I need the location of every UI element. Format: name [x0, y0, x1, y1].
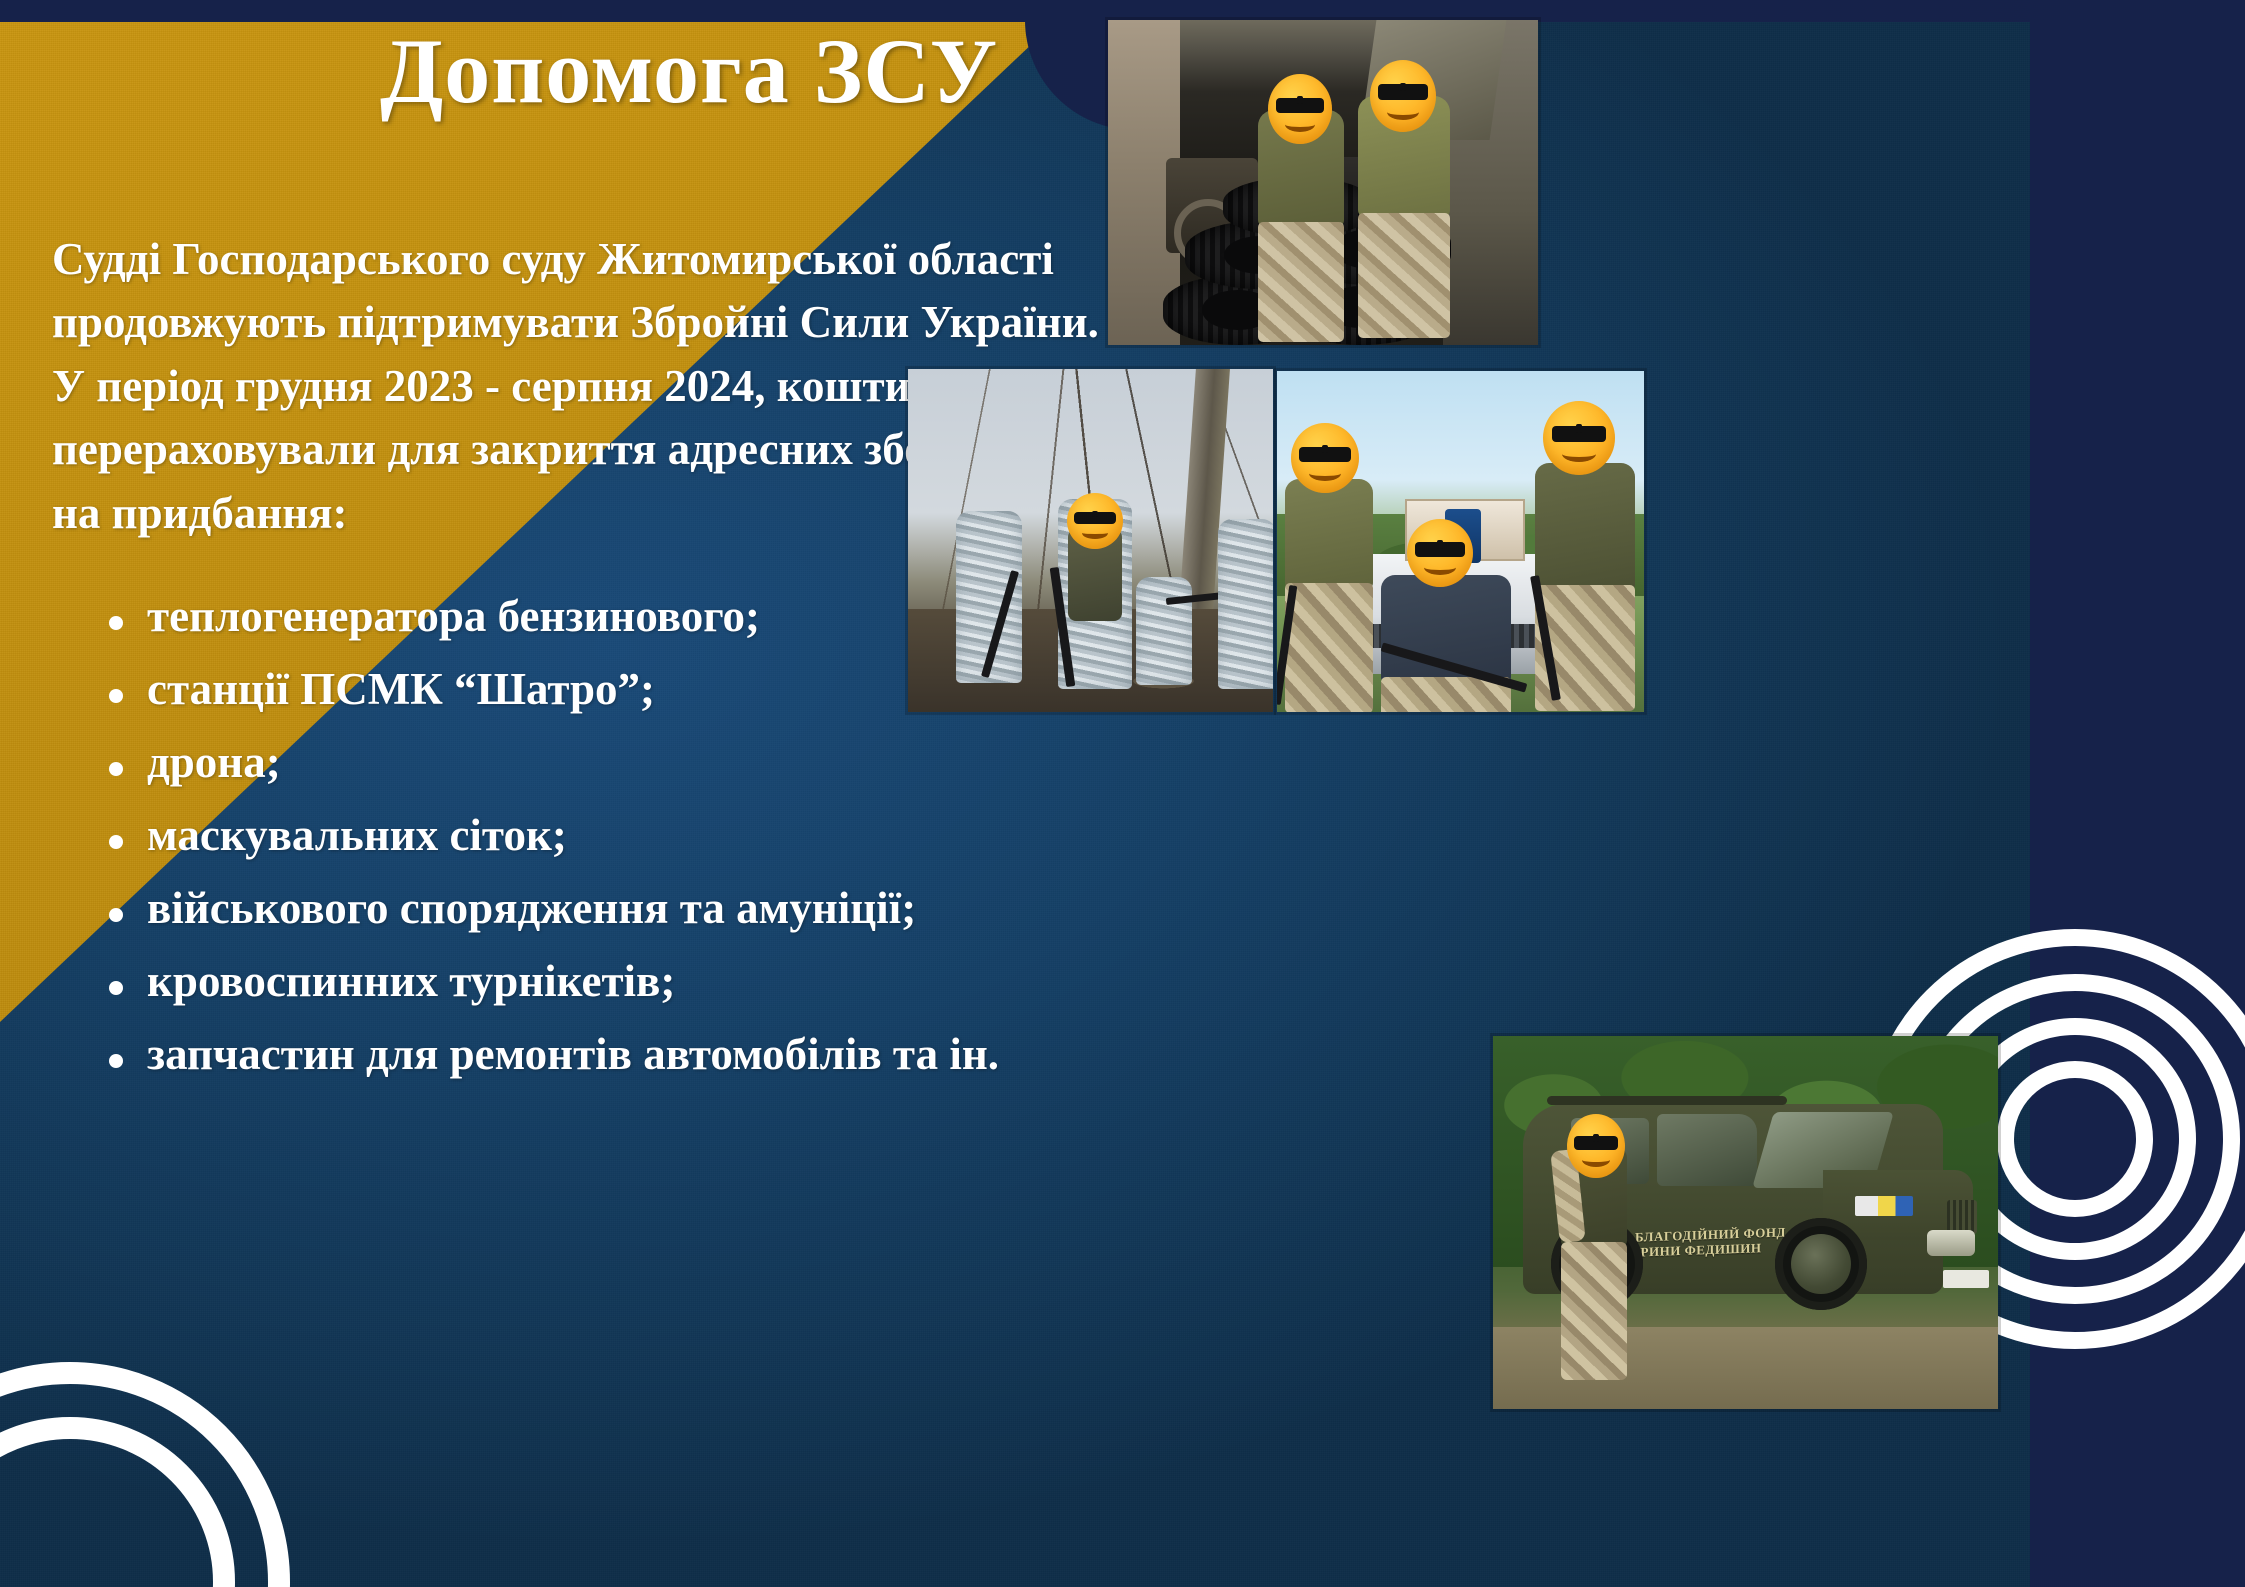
- person-figure: [1535, 463, 1635, 709]
- slide-canvas: Допомога ЗСУ Судді Господарського суду Ж…: [0, 0, 2245, 1587]
- emoji-face-icon: [1370, 60, 1436, 132]
- emoji-face-icon: [1067, 493, 1123, 549]
- sunglasses-icon: [1574, 1136, 1618, 1150]
- person-camo-pants: [1258, 222, 1344, 342]
- sunglasses-icon: [1415, 542, 1465, 557]
- paragraph-line: Судді Господарського суду Житомирської о…: [52, 228, 1062, 291]
- suv-door-text-line-2: ІРИНИ ФЕДИШИН: [1635, 1240, 1786, 1260]
- photo-winter-forest-snipers: [908, 369, 1273, 712]
- person-figure-seated: [1381, 575, 1511, 712]
- emoji-face-icon: [1567, 1114, 1625, 1178]
- sunglasses-icon: [1552, 426, 1607, 442]
- suv-flag-sticker: [1855, 1196, 1913, 1216]
- person-figure: [1358, 68, 1450, 338]
- suv-license-plate: [1943, 1270, 1989, 1288]
- emoji-face-icon: [1543, 401, 1615, 475]
- suv-headlight: [1927, 1230, 1975, 1256]
- emoji-smile-icon: [1582, 1153, 1610, 1167]
- list-item: кровоспинних турнікетів;: [95, 955, 1215, 1007]
- sunglasses-icon: [1378, 84, 1428, 100]
- page-title: Допомога ЗСУ: [380, 18, 1080, 124]
- emoji-smile-icon: [1424, 560, 1456, 575]
- person-shirt: [1285, 479, 1373, 589]
- suv-front-wheel: [1775, 1218, 1867, 1310]
- emoji-smile-icon: [1387, 104, 1419, 120]
- emoji-face-icon: [1407, 519, 1473, 587]
- person-camo-pants: [1285, 583, 1373, 712]
- ghillie-sniper-crouching: [1136, 577, 1192, 685]
- emoji-smile-icon: [1285, 117, 1316, 132]
- photo-military-suv: БЛАГОДІЙНИЙ ФОНД ІРИНИ ФЕДИШИН: [1493, 1036, 1998, 1409]
- person-figure: [1285, 479, 1373, 709]
- sunglasses-icon: [1299, 447, 1351, 462]
- suv-door-lettering: БЛАГОДІЙНИЙ ФОНД ІРИНИ ФЕДИШИН: [1635, 1225, 1786, 1260]
- emoji-smile-icon: [1082, 527, 1109, 539]
- person-camo-pants: [1358, 213, 1450, 338]
- sunglasses-icon: [1276, 98, 1325, 113]
- person-figure: [1258, 80, 1344, 340]
- emoji-face-icon: [1268, 74, 1332, 144]
- list-item: маскувальних сіток;: [95, 809, 1215, 861]
- sunglasses-icon: [1074, 512, 1117, 524]
- list-item: дрона;: [95, 736, 1215, 788]
- photo-soldiers-tires: [1108, 20, 1538, 345]
- person-shirt: [1535, 463, 1635, 591]
- right-navy-band: [2030, 0, 2245, 1587]
- list-item: військового спорядження та амуніції;: [95, 882, 1215, 934]
- emoji-smile-icon: [1309, 466, 1342, 481]
- person-figure: [1561, 1128, 1627, 1378]
- suv-roof-rail: [1547, 1096, 1787, 1105]
- ghillie-sniper: [1218, 519, 1273, 689]
- emoji-smile-icon: [1562, 446, 1597, 462]
- emoji-face-icon: [1291, 423, 1359, 493]
- person-camo-pants: [1561, 1242, 1627, 1380]
- suv-grille: [1947, 1200, 1977, 1234]
- paragraph-line: продовжують підтримувати Збройні Сили Ук…: [52, 291, 1062, 354]
- list-item: запчастин для ремонтів автомобілів та ін…: [95, 1028, 1215, 1080]
- photo-soldiers-pickup: [1277, 371, 1644, 712]
- suv-door-window: [1657, 1114, 1757, 1186]
